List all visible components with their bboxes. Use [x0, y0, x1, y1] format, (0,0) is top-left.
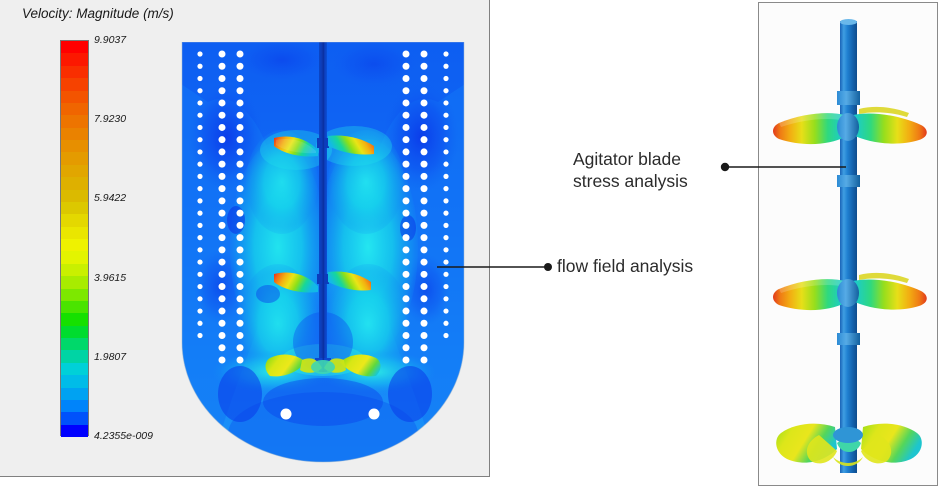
cfd-figure: Velocity: Magnitude (m/s) 9.90377.92305.…	[0, 0, 940, 488]
flow-field-annotation-label: flow field analysis	[557, 255, 693, 277]
agitator-stress-leader-dot	[721, 163, 729, 171]
annotation-leaders	[0, 0, 940, 488]
agitator-stress-annotation-label: Agitator blade stress analysis	[573, 148, 688, 193]
flow-field-leader-dot	[544, 263, 552, 271]
